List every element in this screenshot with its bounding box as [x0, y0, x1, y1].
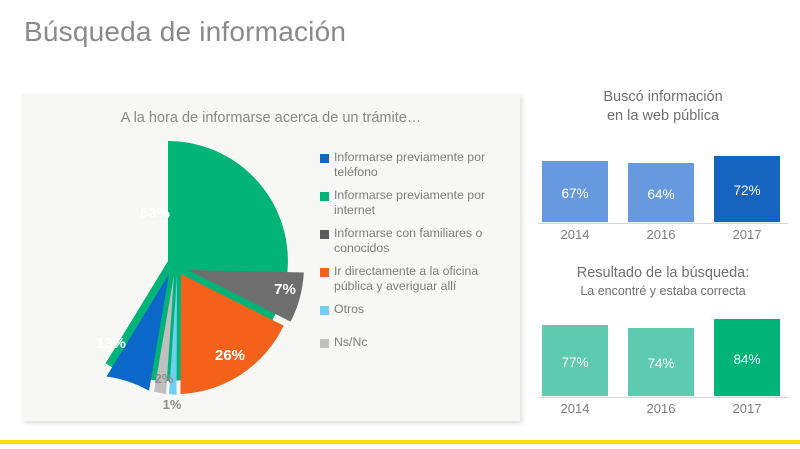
bar-chart-title-line2: en la web pública: [536, 107, 790, 126]
pie-label-otros: 1%: [163, 397, 182, 412]
pie-label-oficina: 26%: [215, 347, 245, 364]
bar-chart-web-publica: Buscó información en la web pública 67% …: [536, 88, 790, 250]
pie-legend: Informarse previamente por teléfono Info…: [320, 150, 512, 358]
legend-item-oficina[interactable]: Ir directamente a la oficina pública y a…: [320, 264, 512, 293]
legend-label: Ir directamente a la oficina pública y a…: [334, 264, 512, 293]
legend-swatch-icon: [320, 268, 329, 277]
bar-value-2014: 67%: [542, 186, 608, 201]
pie-chart: 53% 13% 2% 1% 26% 7%: [32, 138, 322, 418]
legend-swatch-icon: [320, 192, 329, 201]
page-title: Búsqueda de información: [24, 16, 346, 48]
x-axis-line: [538, 397, 788, 398]
plot-area: 77% 74% 84%: [536, 306, 790, 398]
bar-value-2017: 72%: [714, 183, 780, 198]
legend-item-telefono[interactable]: Informarse previamente por teléfono: [320, 150, 512, 179]
bar-group-2017: 72%: [714, 131, 780, 223]
bar-chart-resultado-busqueda: Resultado de la búsqueda: La encontré y …: [536, 264, 790, 430]
legend-label: Informarse previamente por teléfono: [334, 150, 512, 179]
bar-value-2016: 74%: [628, 356, 694, 371]
legend-item-nsnc[interactable]: Ns/Nc: [320, 335, 512, 350]
bar-group-2016: 74%: [628, 305, 694, 397]
bar-value-2014: 77%: [542, 355, 608, 370]
legend-swatch-icon: [320, 339, 329, 348]
x-tick-2017: 2017: [714, 227, 780, 242]
legend-swatch-icon: [320, 306, 329, 315]
bar-group-2014: 67%: [542, 131, 608, 223]
x-tick-2016: 2016: [628, 401, 694, 416]
legend-label: Ns/Nc: [334, 335, 367, 350]
bar-group-2017: 84%: [714, 305, 780, 397]
pie-label-familiares: 7%: [274, 281, 296, 298]
legend-item-familiares[interactable]: Informarse con familiares o conocidos: [320, 226, 512, 255]
x-tick-2017: 2017: [714, 401, 780, 416]
bar-value-2016: 64%: [628, 187, 694, 202]
x-tick-2014: 2014: [542, 401, 608, 416]
legend-label: Informarse previamente por internet: [334, 188, 512, 217]
slide-root: Búsqueda de información A la hora de inf…: [0, 0, 800, 449]
x-axis-categories: 2014 2016 2017: [536, 227, 790, 247]
bar-group-2014: 77%: [542, 305, 608, 397]
pie-label-telefono: 13%: [96, 335, 126, 352]
legend-swatch-icon: [320, 230, 329, 239]
pie-chart-title: A la hora de informarse acerca de un trá…: [22, 110, 520, 126]
legend-label: Informarse con familiares o conocidos: [334, 226, 512, 255]
bar-chart-title: Resultado de la búsqueda:: [536, 264, 790, 283]
legend-item-otros[interactable]: Otros: [320, 302, 512, 317]
bar-chart-title-line1: Buscó información: [536, 88, 790, 107]
legend-label: Otros: [334, 302, 364, 317]
legend-item-internet[interactable]: Informarse previamente por internet: [320, 188, 512, 217]
pie-label-internet: 53%: [140, 205, 170, 222]
legend-swatch-icon: [320, 154, 329, 163]
pie-label-nsnc: 2%: [155, 371, 174, 386]
x-axis-line: [538, 223, 788, 224]
plot-area: 67% 64% 72%: [536, 132, 790, 224]
x-tick-2016: 2016: [628, 227, 694, 242]
x-axis-categories: 2014 2016 2017: [536, 401, 790, 421]
bar-value-2017: 84%: [714, 352, 780, 367]
bar-group-2016: 64%: [628, 131, 694, 223]
bar-chart-subtitle: La encontré y estaba correcta: [536, 283, 790, 300]
pie-chart-card: A la hora de informarse acerca de un trá…: [22, 94, 520, 421]
x-tick-2014: 2014: [542, 227, 608, 242]
bottom-accent-bar: [0, 440, 800, 444]
